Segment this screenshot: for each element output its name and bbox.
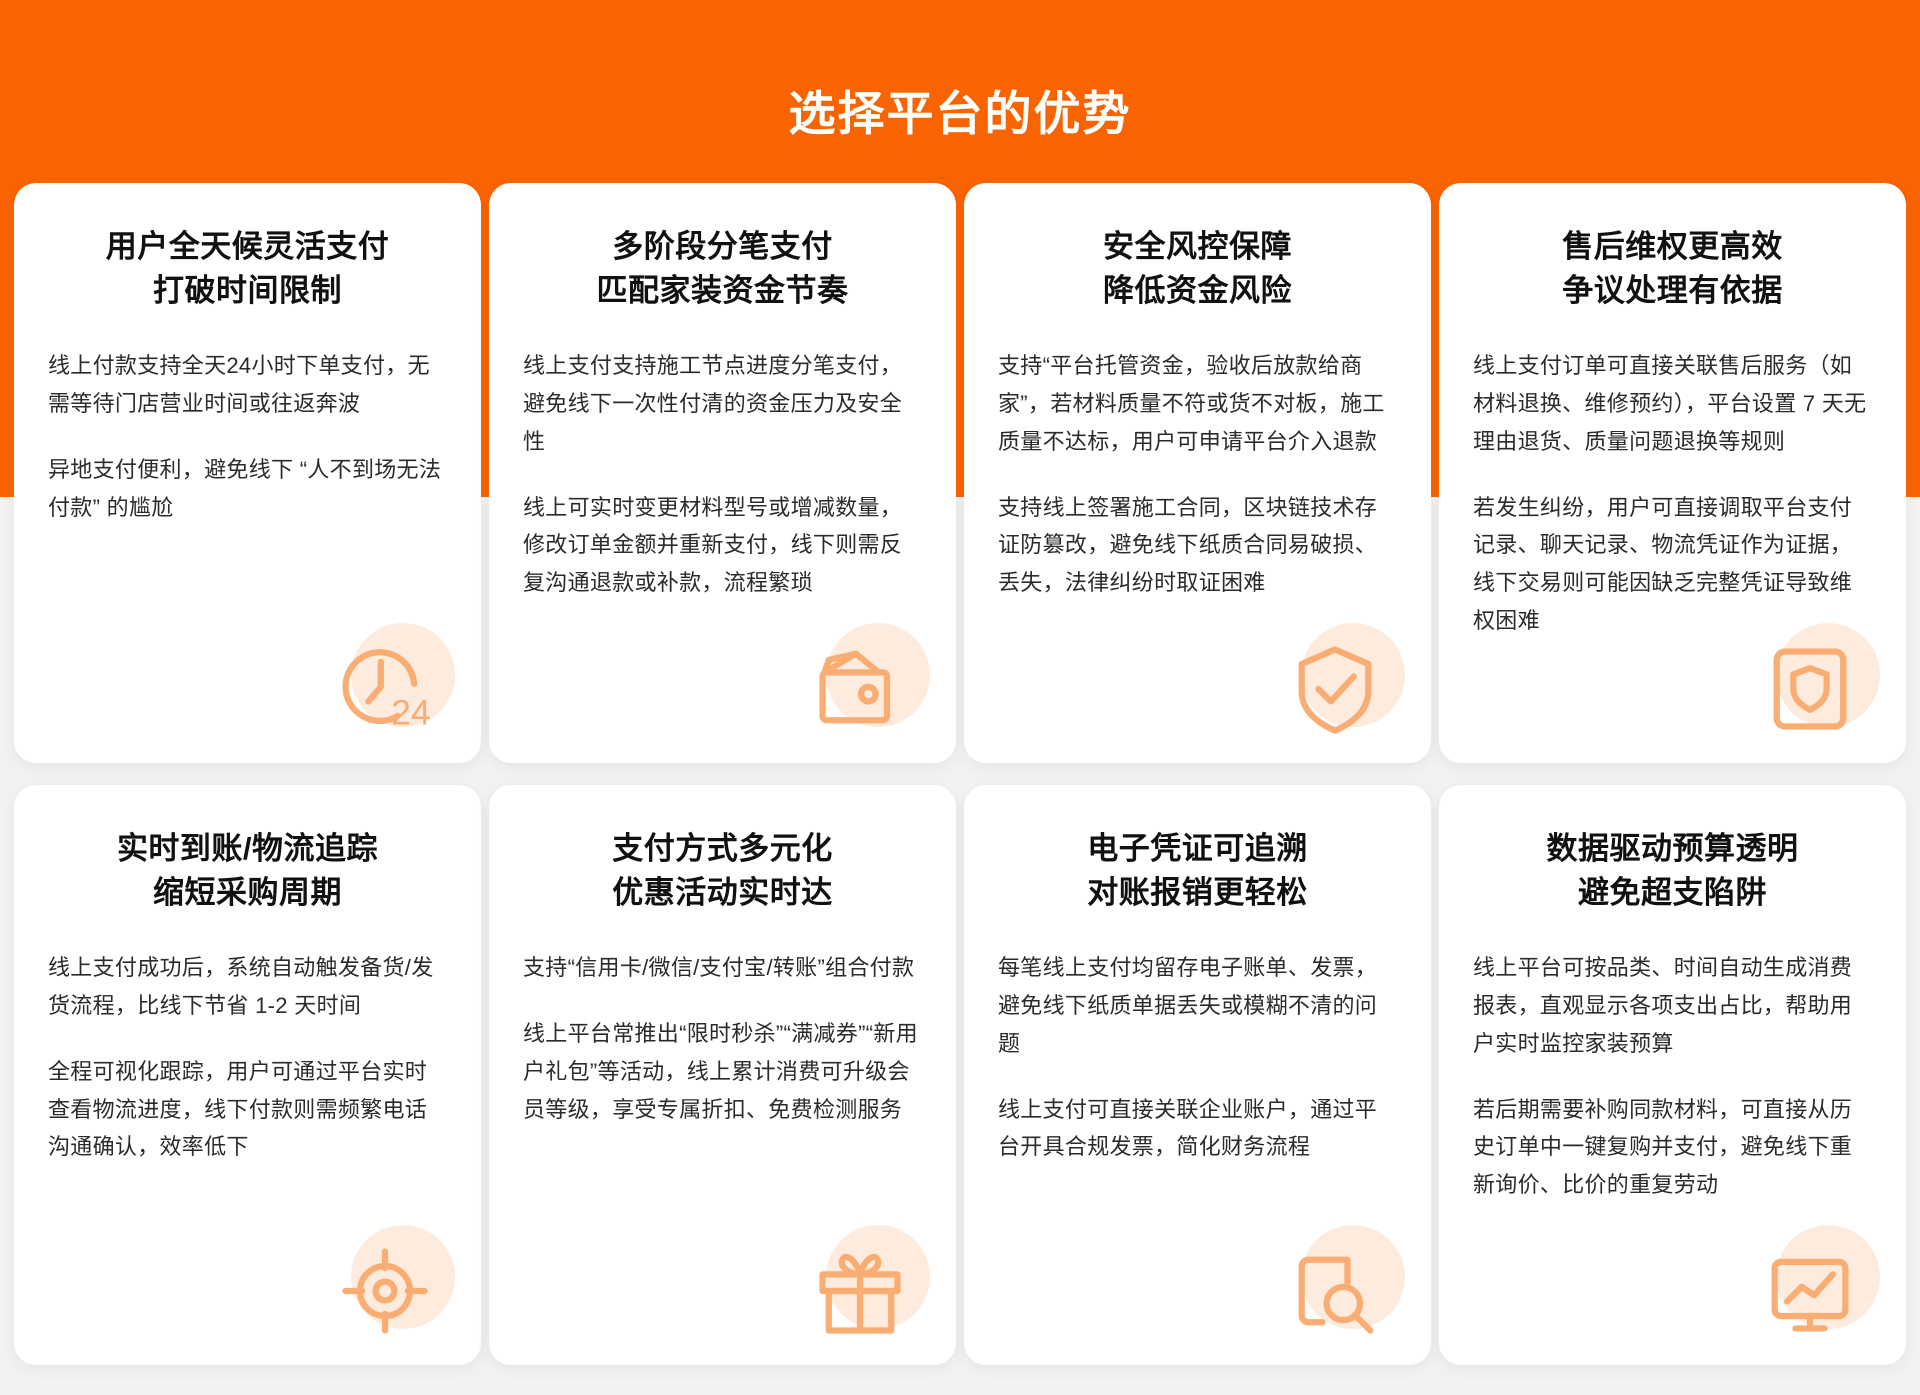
chart-report-icon — [1758, 1239, 1862, 1343]
gift-icon — [808, 1239, 912, 1343]
card-paragraph: 若发生纠纷，用户可直接调取平台支付记录、聊天记录、物流凭证作为证据，线下交易则可… — [1473, 489, 1872, 640]
wallet-icon — [808, 637, 912, 741]
target-icon — [333, 1239, 437, 1343]
card-title: 售后维权更高效 争议处理有依据 — [1473, 225, 1872, 313]
card-body: 每笔线上支付均留存电子账单、发票，避免线下纸质单据丢失或模糊不清的问题 线上支付… — [998, 949, 1397, 1166]
card-paragraph: 线上付款支持全天24小时下单支付，无需等待门店营业时间或往返奔波 — [48, 347, 447, 423]
card-body: 线上支付订单可直接关联售后服务（如材料退换、维修预约），平台设置 7 天无理由退… — [1473, 347, 1872, 640]
card-title: 多阶段分笔支付 匹配家装资金节奏 — [523, 225, 922, 313]
card-title: 支付方式多元化 优惠活动实时达 — [523, 827, 922, 915]
card-body: 支持“信用卡/微信/支付宝/转账”组合付款 线上平台常推出“限时秒杀”“满减券”… — [523, 949, 922, 1128]
card-paragraph: 异地支付便利，避免线下 “人不到场无法付款” 的尴尬 — [48, 451, 447, 527]
page-title: 选择平台的优势 — [0, 75, 1920, 144]
card-body: 线上支付成功后，系统自动触发备货/发货流程，比线下节省 1-2 天时间 全程可视… — [48, 949, 447, 1166]
card-paragraph: 支持线上签署施工合同，区块链技术存证防篡改，避免线下纸质合同易破损、丢失，法律纠… — [998, 489, 1397, 602]
advantage-card-1[interactable]: 用户全天候灵活支付 打破时间限制 线上付款支持全天24小时下单支付，无需等待门店… — [14, 183, 481, 763]
card-body: 线上支付支持施工节点进度分笔支付，避免线下一次性付清的资金压力及安全性 线上可实… — [523, 347, 922, 602]
document-search-icon — [1283, 1239, 1387, 1343]
card-paragraph: 若后期需要补购同款材料，可直接从历史订单中一键复购并支付，避免线下重新询价、比价… — [1473, 1091, 1872, 1204]
card-paragraph: 线上平台常推出“限时秒杀”“满减券”“新用户礼包”等活动，线上累计消费可升级会员… — [523, 1015, 922, 1128]
card-paragraph: 支持“信用卡/微信/支付宝/转账”组合付款 — [523, 949, 922, 987]
card-title: 用户全天候灵活支付 打破时间限制 — [48, 225, 447, 313]
card-title: 安全风控保障 降低资金风险 — [998, 225, 1397, 313]
clock-24-icon: 24 — [333, 637, 437, 741]
advantage-card-2[interactable]: 多阶段分笔支付 匹配家装资金节奏 线上支付支持施工节点进度分笔支付，避免线下一次… — [489, 183, 956, 763]
card-paragraph: 线上支付订单可直接关联售后服务（如材料退换、维修预约），平台设置 7 天无理由退… — [1473, 347, 1872, 460]
advantage-card-7[interactable]: 电子凭证可追溯 对账报销更轻松 每笔线上支付均留存电子账单、发票，避免线下纸质单… — [964, 785, 1431, 1365]
card-paragraph: 线上支付可直接关联企业账户，通过平台开具合规发票，简化财务流程 — [998, 1091, 1397, 1167]
card-paragraph: 线上可实时变更材料型号或增减数量，修改订单金额并重新支付，线下则需反复沟通退款或… — [523, 489, 922, 602]
card-paragraph: 支持“平台托管资金，验收后放款给商家”，若材料质量不符或货不对板，施工质量不达标… — [998, 347, 1397, 460]
advantage-card-6[interactable]: 支付方式多元化 优惠活动实时达 支持“信用卡/微信/支付宝/转账”组合付款 线上… — [489, 785, 956, 1365]
svg-text:24: 24 — [391, 693, 430, 732]
card-title: 电子凭证可追溯 对账报销更轻松 — [998, 827, 1397, 915]
advantage-card-grid: 用户全天候灵活支付 打破时间限制 线上付款支持全天24小时下单支付，无需等待门店… — [0, 0, 1920, 1395]
card-paragraph: 每笔线上支付均留存电子账单、发票，避免线下纸质单据丢失或模糊不清的问题 — [998, 949, 1397, 1062]
card-body: 线上平台可按品类、时间自动生成消费报表，直观显示各项支出占比，帮助用户实时监控家… — [1473, 949, 1872, 1204]
advantage-card-5[interactable]: 实时到账/物流追踪 缩短采购周期 线上支付成功后，系统自动触发备货/发货流程，比… — [14, 785, 481, 1365]
document-shield-icon — [1758, 637, 1862, 741]
advantage-card-4[interactable]: 售后维权更高效 争议处理有依据 线上支付订单可直接关联售后服务（如材料退换、维修… — [1439, 183, 1906, 763]
card-paragraph: 全程可视化跟踪，用户可通过平台实时查看物流进度，线下付款则需频繁电话沟通确认，效… — [48, 1053, 447, 1166]
card-paragraph: 线上支付成功后，系统自动触发备货/发货流程，比线下节省 1-2 天时间 — [48, 949, 447, 1025]
card-body: 支持“平台托管资金，验收后放款给商家”，若材料质量不符或货不对板，施工质量不达标… — [998, 347, 1397, 602]
card-paragraph: 线上平台可按品类、时间自动生成消费报表，直观显示各项支出占比，帮助用户实时监控家… — [1473, 949, 1872, 1062]
card-title: 实时到账/物流追踪 缩短采购周期 — [48, 827, 447, 915]
card-body: 线上付款支持全天24小时下单支付，无需等待门店营业时间或往返奔波 异地支付便利，… — [48, 347, 447, 526]
card-paragraph: 线上支付支持施工节点进度分笔支付，避免线下一次性付清的资金压力及安全性 — [523, 347, 922, 460]
card-title: 数据驱动预算透明 避免超支陷阱 — [1473, 827, 1872, 915]
advantage-card-3[interactable]: 安全风控保障 降低资金风险 支持“平台托管资金，验收后放款给商家”，若材料质量不… — [964, 183, 1431, 763]
shield-check-icon — [1283, 637, 1387, 741]
advantage-card-8[interactable]: 数据驱动预算透明 避免超支陷阱 线上平台可按品类、时间自动生成消费报表，直观显示… — [1439, 785, 1906, 1365]
